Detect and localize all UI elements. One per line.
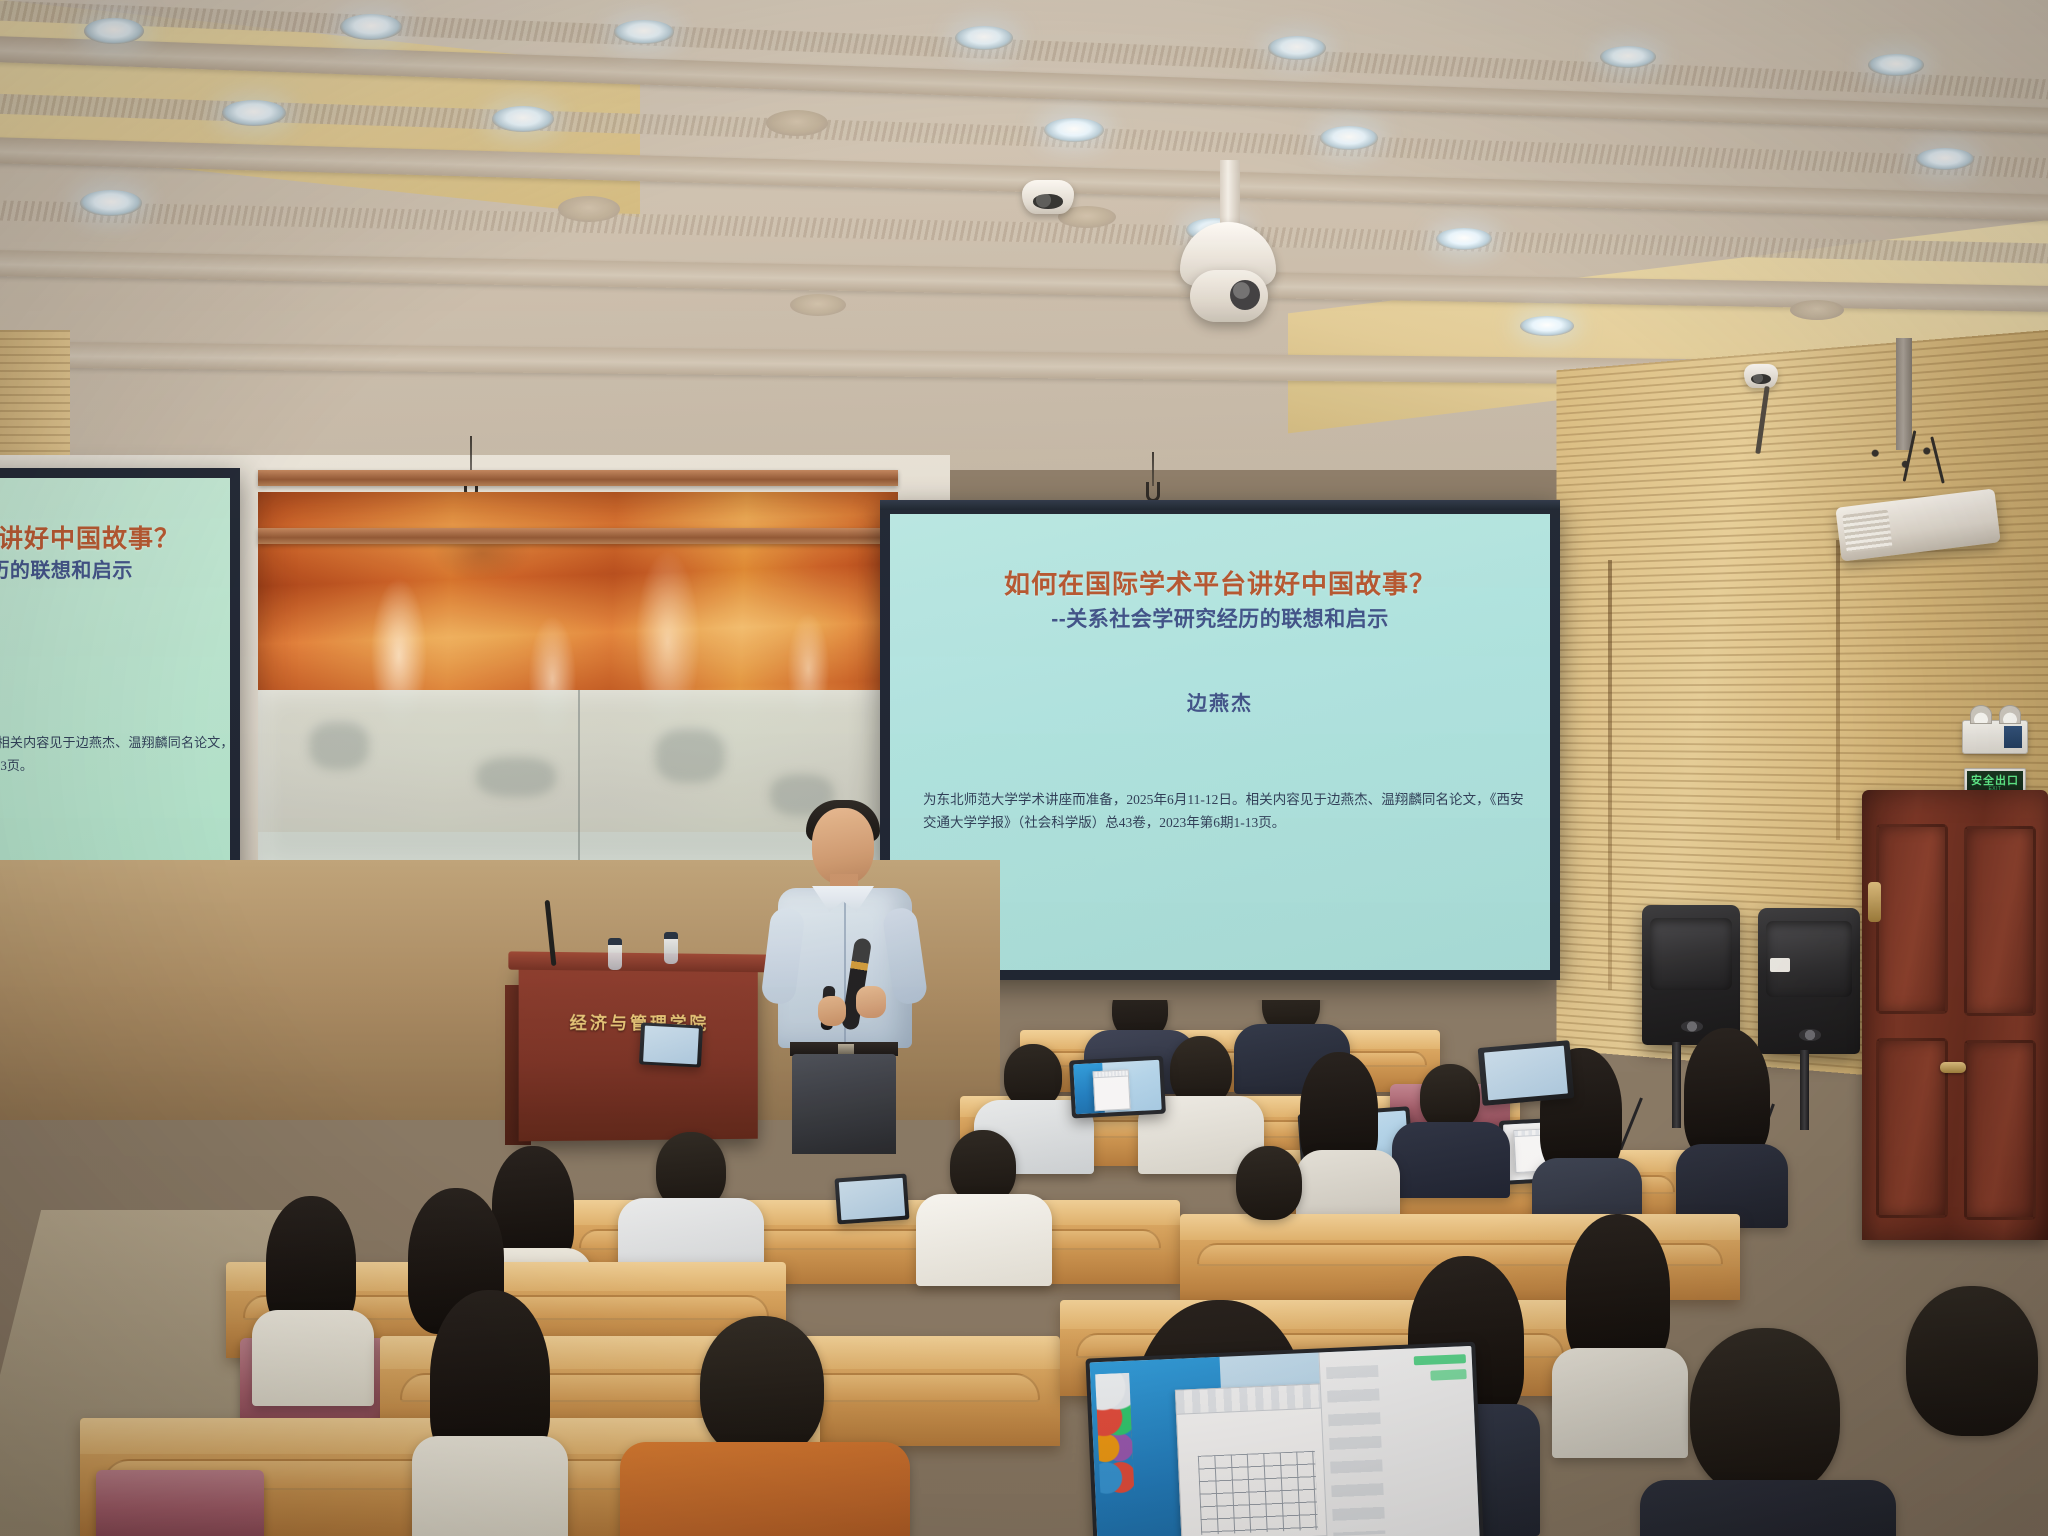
downlight <box>1268 36 1326 60</box>
audience-hair <box>1566 1214 1670 1370</box>
laptop-doc-toolbar <box>1176 1384 1335 1415</box>
dome-camera-icon <box>1744 364 1778 388</box>
audience-torso <box>412 1436 568 1536</box>
downlight <box>222 100 286 126</box>
emergency-light-icon <box>1962 720 2028 754</box>
audience-head <box>1906 1286 2038 1436</box>
laptop-screen[interactable] <box>1090 1346 1480 1536</box>
laptop-icon[interactable] <box>1085 1342 1483 1536</box>
slide-title: 如何在国际学术平台讲好中国故事？ <box>890 564 1550 601</box>
copper-panel-rail <box>258 470 898 486</box>
laptop-document-window <box>1175 1383 1342 1536</box>
door-panel-upper-right <box>1964 826 2036 1016</box>
door-edge-plate <box>1868 882 1881 922</box>
secondary-slide-title: 如何在国际学术平台讲好中国故事？ <box>0 519 230 555</box>
audience-head <box>950 1130 1016 1204</box>
glass-reflection <box>309 722 369 770</box>
dome-camera-icon <box>1022 180 1074 214</box>
downlight-off <box>790 294 846 316</box>
chat-conversation-list <box>1326 1365 1385 1536</box>
downlight-off <box>558 196 620 222</box>
secondary-projection-screen: 如何在国际学术平台讲好中国故事？ --关系社会学研究经历的联想和启示 为东北师范… <box>0 468 240 898</box>
seat-back <box>96 1470 264 1536</box>
laptop-chat-window <box>1319 1346 1480 1536</box>
laptop-lid <box>1085 1342 1483 1536</box>
wall-seam <box>1608 560 1612 990</box>
projector-mount-pole <box>1896 338 1912 450</box>
downlight <box>1320 126 1378 150</box>
emergency-lamp <box>1970 705 1992 724</box>
audience-torso <box>1640 1480 1896 1536</box>
downlight <box>1868 54 1924 76</box>
laptop-icon <box>1478 1040 1575 1106</box>
glass-reflection <box>476 757 556 797</box>
ptz-camera-lens <box>1190 270 1268 322</box>
secondary-screen-surface: 如何在国际学术平台讲好中国故事？ --关系社会学研究经历的联想和启示 为东北师范… <box>0 478 230 888</box>
audience-torso <box>252 1310 374 1406</box>
projector-vent <box>1842 510 1892 553</box>
chat-highlight-badge <box>1430 1369 1467 1380</box>
audience-head <box>700 1316 824 1458</box>
downlight <box>1600 46 1656 68</box>
screen-roller-bar <box>880 500 1560 510</box>
downlight <box>492 106 554 132</box>
glass-reflection <box>655 729 725 783</box>
laptop-screen <box>1073 1060 1161 1114</box>
chat-highlight-banner <box>1414 1354 1466 1366</box>
podium-top-surface <box>508 951 769 972</box>
door-panel-upper-left <box>1876 824 1948 1014</box>
laptop-lid <box>1069 1056 1166 1119</box>
desk-top <box>1020 1030 1440 1049</box>
audience-head <box>1236 1146 1302 1220</box>
audience-seating-area <box>0 1000 2048 1536</box>
desktop-icons <box>1095 1372 1136 1536</box>
laptop-spreadsheet-grid <box>1198 1451 1319 1535</box>
audience-head <box>1004 1044 1062 1108</box>
screen-hanging-wire <box>1152 452 1154 486</box>
slide-subtitle: --关系社会学研究经历的联想和启示 <box>890 603 1550 633</box>
secondary-slide-subtitle: --关系社会学研究经历的联想和启示 <box>0 554 230 583</box>
downlight <box>1520 316 1574 336</box>
downlight <box>1436 228 1492 250</box>
ptz-camera-pole <box>1220 160 1240 230</box>
downlight <box>955 26 1013 50</box>
downlight <box>80 190 142 216</box>
audience-head <box>1690 1328 1840 1496</box>
audience-torso <box>1392 1122 1510 1198</box>
downlight <box>1916 148 1974 170</box>
tablet-icon <box>639 1022 703 1067</box>
wall-seam <box>1836 540 1840 840</box>
audience-torso <box>620 1442 910 1536</box>
downlight <box>614 20 674 44</box>
speaker-label-tag <box>1770 958 1790 972</box>
audience-torso <box>1552 1348 1688 1458</box>
laptop-icon <box>1069 1056 1166 1119</box>
lecture-hall-photo: 如何在国际学术平台讲好中国故事？ --关系社会学研究经历的联想和启示 为东北师范… <box>0 0 2048 1536</box>
ptz-camera-icon <box>1180 160 1280 330</box>
secondary-slide-body: 为东北师范大学学术讲座而准备，2025年6月11-12日。相关内容见于边燕杰、温… <box>0 732 230 778</box>
laptop-doc-toolbar <box>1094 1070 1128 1078</box>
downlight <box>340 14 402 40</box>
audience-torso <box>916 1194 1052 1286</box>
audience-head <box>1420 1064 1480 1130</box>
water-bottle <box>664 932 678 964</box>
slide-author: 边燕杰 <box>890 687 1550 716</box>
downlight <box>84 18 144 44</box>
copper-panel-rail <box>258 528 898 544</box>
presenter-head <box>812 808 874 884</box>
downlight-off <box>1790 300 1844 320</box>
laptop-icon <box>834 1174 909 1225</box>
slide-body-text: 为东北师范大学学术讲座而准备，2025年6月11-12日。相关内容见于边燕杰、温… <box>923 788 1524 835</box>
downlight-off <box>766 110 828 136</box>
audience-hair <box>1684 1028 1770 1160</box>
water-bottle <box>608 938 622 970</box>
downlight <box>1044 118 1104 142</box>
laptop-document-window <box>1093 1069 1131 1111</box>
secondary-slide-content: 如何在国际学术平台讲好中国故事？ --关系社会学研究经历的联想和启示 为东北师范… <box>0 478 230 888</box>
emergency-lamp <box>1999 705 2021 724</box>
projector-cables <box>1858 440 1944 484</box>
